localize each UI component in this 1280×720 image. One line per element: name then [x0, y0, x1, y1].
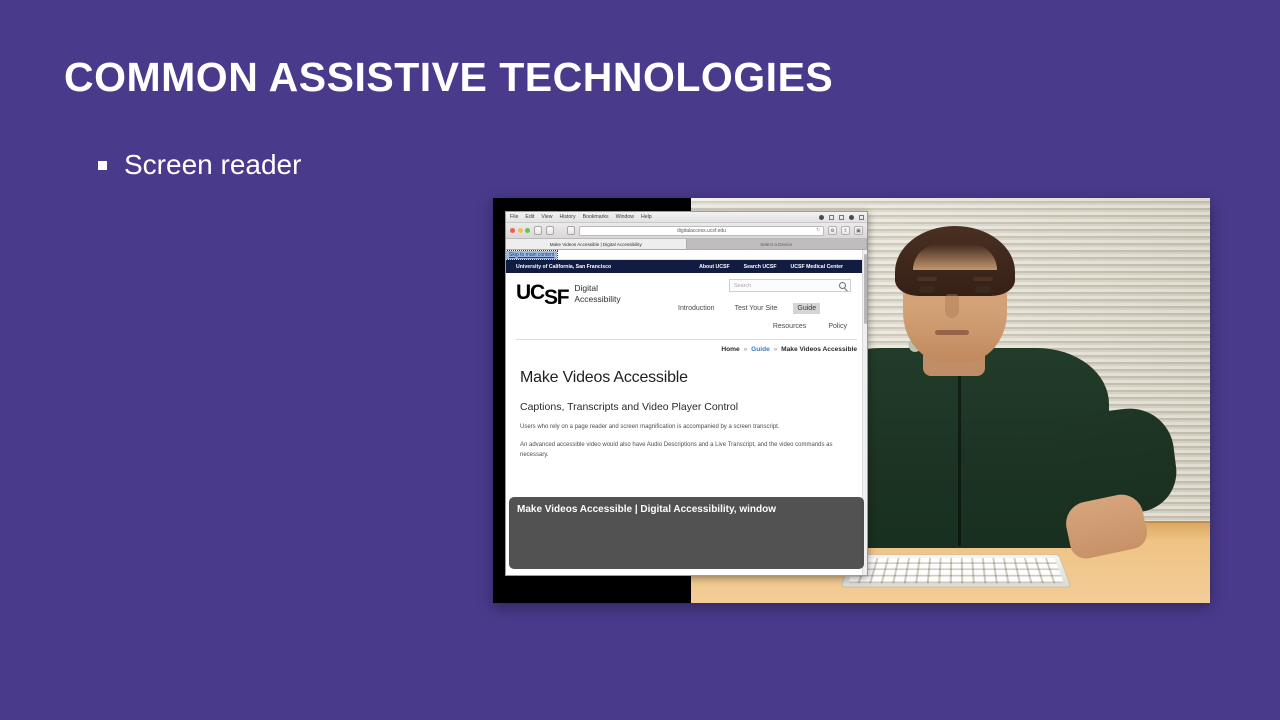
menu-help[interactable]: Help — [641, 214, 652, 220]
video-embed[interactable]: File Edit View History Bookmarks Window … — [493, 198, 1210, 603]
voiceover-icon[interactable] — [829, 215, 834, 220]
menu-window[interactable]: Window — [616, 214, 634, 220]
page-subheading: Captions, Transcripts and Video Player C… — [520, 401, 853, 414]
menu-bookmarks[interactable]: Bookmarks — [583, 214, 609, 220]
person-eye-right — [975, 286, 991, 293]
ucsf-global-links[interactable]: About UCSF Search UCSF UCSF Medical Cent… — [699, 264, 843, 270]
page-body: Users who rely on a page reader and scre… — [520, 422, 853, 460]
close-icon[interactable] — [510, 228, 515, 233]
search-input[interactable]: Search — [729, 279, 851, 292]
tab-strip[interactable]: Make Videos Accessible | Digital Accessi… — [506, 239, 867, 250]
reload-icon[interactable]: ↻ — [816, 228, 820, 233]
zoom-icon[interactable] — [525, 228, 530, 233]
tabs-icon[interactable]: ▣ — [854, 226, 863, 235]
clock-icon[interactable] — [859, 215, 864, 220]
search-placeholder: Search — [734, 283, 751, 289]
url-input[interactable]: digitalaccess.ucsf.edu ↻ — [579, 226, 824, 236]
menu-file[interactable]: File — [510, 214, 518, 220]
link-about-ucsf[interactable]: About UCSF — [699, 264, 730, 270]
breadcrumb-guide[interactable]: Guide — [751, 346, 770, 353]
battery-icon[interactable] — [849, 215, 854, 220]
body-paragraph-2: An advanced accessible video would also … — [520, 440, 853, 460]
breadcrumb-home[interactable]: Home — [721, 346, 739, 353]
bullet-list: Screen reader — [98, 148, 301, 182]
toolbar-right-buttons[interactable]: ⚙ ⇧ ▣ — [828, 226, 863, 235]
nav-item-policy[interactable]: Policy — [824, 321, 851, 332]
skip-link-row[interactable]: Skip to main content — [506, 250, 867, 260]
person-eyebrow-left — [917, 277, 937, 281]
ucsf-global-bar[interactable]: University of California, San Francisco … — [506, 260, 867, 273]
nav-item-guide[interactable]: Guide — [793, 303, 820, 314]
body-paragraph-1: Users who rely on a page reader and scre… — [520, 422, 853, 432]
breadcrumb-separator-1: » — [742, 346, 750, 353]
browser-toolbar[interactable]: digitalaccess.ucsf.edu ↻ ⚙ ⇧ ▣ — [506, 223, 867, 239]
nav-item-test-your-site[interactable]: Test Your Site — [731, 303, 782, 314]
window-controls[interactable] — [510, 228, 530, 233]
browser-window[interactable]: File Edit View History Bookmarks Window … — [505, 211, 868, 576]
site-title-line2: Accessibility — [574, 294, 620, 304]
breadcrumb-separator-2: » — [772, 346, 780, 353]
share-icon[interactable] — [567, 226, 575, 235]
menu-bar-status-icons[interactable] — [819, 215, 864, 220]
menu-history[interactable]: History — [559, 214, 575, 220]
url-text: digitalaccess.ucsf.edu — [677, 228, 726, 234]
upload-icon[interactable]: ⇧ — [841, 226, 850, 235]
link-ucsf-medical-center[interactable]: UCSF Medical Center — [791, 264, 843, 270]
minimize-icon[interactable] — [518, 228, 523, 233]
tab-make-videos-accessible[interactable]: Make Videos Accessible | Digital Accessi… — [506, 239, 687, 249]
search-icon[interactable] — [839, 282, 846, 289]
link-search-ucsf[interactable]: Search UCSF — [744, 264, 777, 270]
volume-icon[interactable] — [819, 215, 824, 220]
breadcrumb[interactable]: Home » Guide » Make Videos Accessible — [516, 339, 857, 359]
secondary-nav[interactable]: Resources Policy — [769, 321, 851, 332]
sidebar-icon[interactable] — [546, 226, 554, 235]
square-bullet-icon — [98, 161, 107, 170]
nav-item-resources[interactable]: Resources — [769, 321, 810, 332]
scrollbar-thumb[interactable] — [864, 254, 867, 324]
list-item-label: Screen reader — [124, 148, 301, 182]
nav-item-introduction[interactable]: Introduction — [674, 303, 719, 314]
person-eyebrow-right — [973, 277, 993, 281]
site-title-line1: Digital — [574, 283, 598, 293]
breadcrumb-current: Make Videos Accessible — [781, 346, 857, 353]
tab-select-a-device[interactable]: Select a Device — [687, 239, 868, 249]
person-eye-left — [919, 286, 935, 293]
person-mouth — [935, 330, 969, 335]
primary-nav[interactable]: Introduction Test Your Site Guide — [674, 303, 820, 314]
site-title: Digital Accessibility — [574, 281, 620, 305]
screen-reader-caption: Make Videos Accessible | Digital Accessi… — [509, 497, 864, 569]
wifi-icon[interactable] — [839, 215, 844, 220]
skip-to-main-content-link[interactable]: Skip to main content — [506, 251, 557, 259]
settings-icon[interactable]: ⚙ — [828, 226, 837, 235]
menu-edit[interactable]: Edit — [525, 214, 534, 220]
page-heading: Make Videos Accessible — [520, 369, 853, 387]
page-content: Make Videos Accessible Captions, Transcr… — [506, 359, 867, 460]
site-header: UCSF Digital Accessibility Search Introd… — [506, 273, 867, 339]
person-nose — [945, 294, 959, 318]
mac-menu-bar[interactable]: File Edit View History Bookmarks Window … — [506, 212, 867, 223]
list-item: Screen reader — [98, 148, 301, 182]
back-forward-icon[interactable] — [534, 226, 542, 235]
menu-view[interactable]: View — [541, 214, 552, 220]
keyboard — [840, 554, 1072, 587]
page-title: COMMON ASSISTIVE TECHNOLOGIES — [64, 54, 833, 101]
ucsf-logo[interactable]: UCSF — [516, 284, 568, 302]
ucsf-university-name: University of California, San Francisco — [516, 264, 611, 270]
